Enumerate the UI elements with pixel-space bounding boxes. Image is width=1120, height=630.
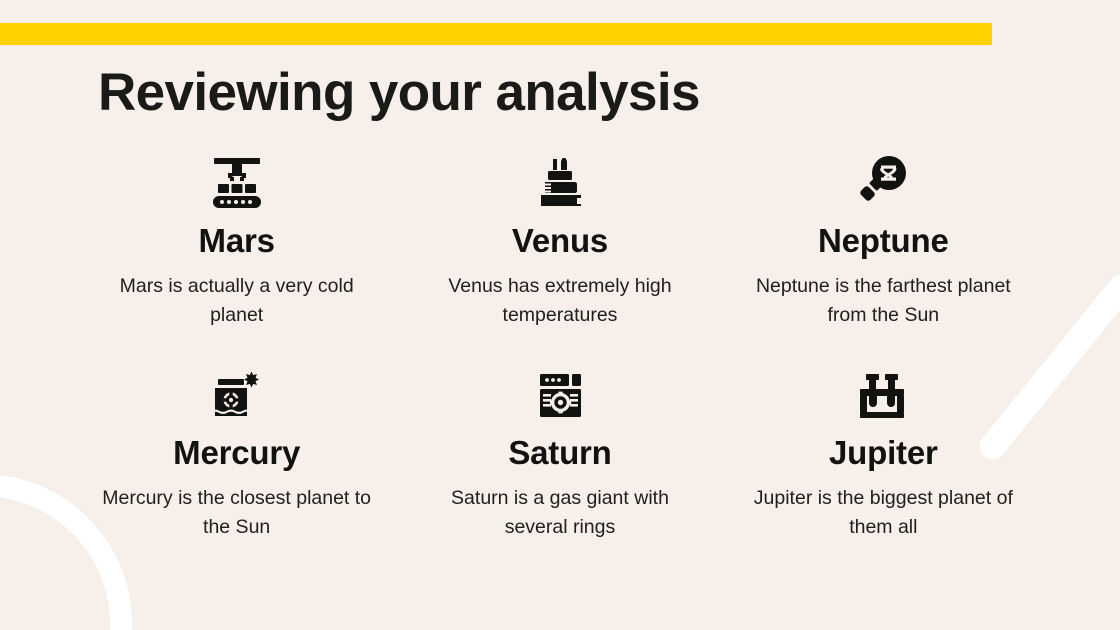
grid-item-title: Saturn [508, 436, 611, 471]
grid-item-description: Neptune is the farthest planet from the … [743, 272, 1023, 331]
grid-item-description: Jupiter is the biggest planet of them al… [743, 484, 1023, 543]
grid-item-venus[interactable]: Venus Venus has extremely high temperatu… [401, 150, 718, 362]
grid-item-title: Jupiter [829, 436, 938, 471]
page-title: Reviewing your analysis [98, 62, 700, 123]
page-title-regular: Reviewing your [98, 63, 495, 122]
grid-item-title: Mars [199, 224, 275, 259]
server-gear-icon [533, 362, 587, 420]
slide-canvas: Reviewing your analysis [0, 0, 1120, 630]
grid-item-saturn[interactable]: Saturn Saturn is a gas giant with severa… [401, 362, 718, 574]
accent-top-bar [0, 23, 992, 45]
grid-item-description: Venus has extremely high temperatures [420, 272, 700, 331]
grid-item-neptune[interactable]: Neptune Neptune is the farthest planet f… [725, 150, 1042, 362]
grid-item-title: Neptune [818, 224, 949, 259]
grid-item-description: Mercury is the closest planet to the Sun [97, 484, 377, 543]
magnifier-dna-icon [855, 150, 911, 208]
grid-item-title: Mercury [173, 436, 300, 471]
book-stack-icon [533, 150, 587, 208]
grid-item-jupiter[interactable]: Jupiter Jupiter is the biggest planet of… [725, 362, 1042, 574]
conveyor-belt-icon [208, 150, 266, 208]
grid-item-description: Saturn is a gas giant with several rings [420, 484, 700, 543]
grid-item-title: Venus [512, 224, 608, 259]
test-tube-rack-icon [855, 362, 911, 420]
grid-item-mercury[interactable]: Mercury Mercury is the closest planet to… [78, 362, 395, 574]
planet-grid: Mars Mars is actually a very cold planet [78, 150, 1042, 574]
page-title-emphasis: analysis [495, 63, 699, 122]
jar-gear-sparkle-icon [209, 362, 265, 420]
grid-item-description: Mars is actually a very cold planet [97, 272, 377, 331]
grid-item-mars[interactable]: Mars Mars is actually a very cold planet [78, 150, 395, 362]
